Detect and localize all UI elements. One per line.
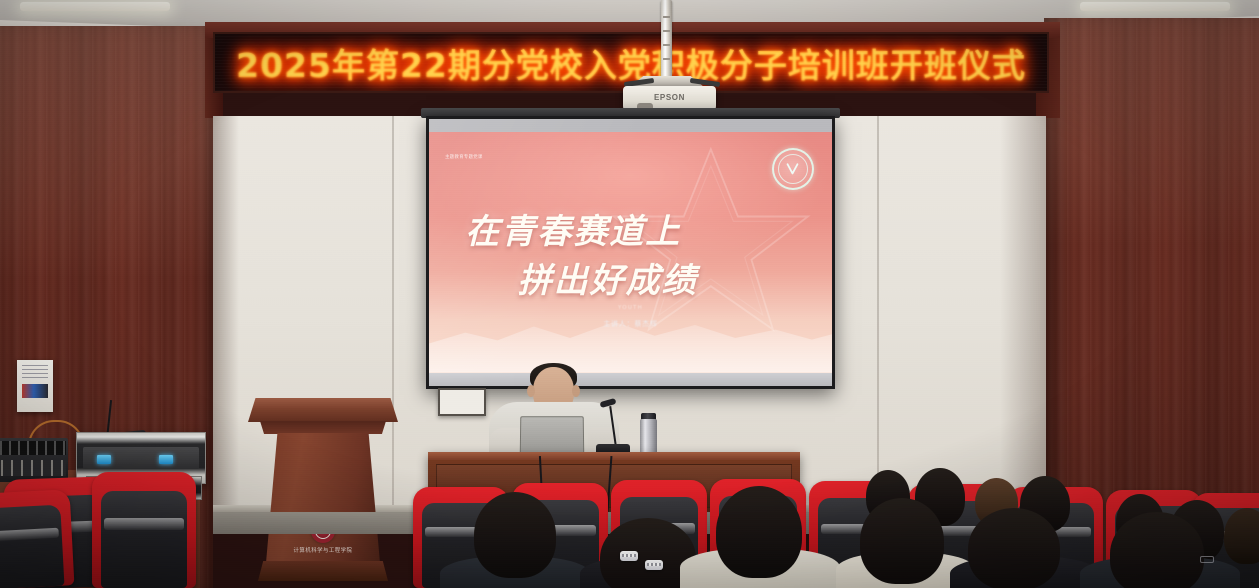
podium-neck (256, 421, 390, 434)
stage-table-lip (428, 452, 800, 460)
lecture-hall-photo: 2025年第22期分党校入党积极分子培训班开班仪式 EPSON 主题教育专题党课 (0, 0, 1259, 588)
attendee-head (1110, 512, 1204, 588)
framed-wall-picture (438, 388, 486, 416)
speaker-ear-left (527, 385, 535, 397)
mixer-knobs[interactable] (0, 441, 66, 455)
slide-title-line-2: 拼出好成绩 (518, 253, 698, 302)
check-v-glyph (784, 160, 801, 177)
eyeglasses-icon (1200, 556, 1214, 563)
projector-mount-pole (661, 0, 672, 84)
seat[interactable] (0, 489, 74, 588)
seat[interactable] (92, 472, 196, 588)
amp-led-display-right (159, 455, 173, 464)
slide-title-line-1: 在青春赛道上 (465, 204, 681, 253)
podium-body: 计算机科学与工程学院 (266, 433, 380, 563)
projector-brand-label: EPSON (623, 93, 716, 102)
slide: 主题教育专题党课 在青春赛道上 拼出好成绩 YOUTH 主讲人：蔡杰辉 (429, 132, 832, 372)
podium: 计算机科学与工程学院 (248, 398, 398, 588)
speaker-ear-right (572, 385, 580, 397)
university-emblem-icon (772, 148, 814, 190)
notice-poster (17, 360, 53, 412)
attendee-head (968, 508, 1060, 588)
poster-text-lines (22, 365, 48, 379)
attendee-head (716, 486, 802, 578)
projection-screen: 主题教育专题党课 在青春赛道上 拼出好成绩 YOUTH 主讲人：蔡杰辉 (429, 119, 832, 386)
slide-corner-label: 主题教育专题党课 (445, 154, 483, 160)
led-banner-text: 2025年第22期分党校入党积极分子培训班开班仪式 (236, 39, 1026, 87)
projection-screen-frame: 主题教育专题党课 在青春赛道上 拼出好成绩 YOUTH 主讲人：蔡杰辉 (426, 116, 835, 389)
wall-seam-2 (877, 116, 879, 516)
poster-image (22, 384, 48, 398)
slide-presenter-label: 主讲人：蔡杰辉 (429, 319, 832, 329)
wall-shadow-right (1000, 116, 1046, 516)
amp-led-display-left (97, 455, 111, 464)
attendee-head (860, 498, 944, 584)
podium-top (248, 398, 398, 422)
wall-shadow-left (213, 116, 239, 516)
slide-subtitle: YOUTH (429, 305, 832, 311)
ceiling-light-left (20, 2, 170, 11)
podium-base (258, 561, 388, 581)
hair-clip (645, 560, 663, 570)
ceiling-light-right (1080, 2, 1230, 11)
mixer-faders[interactable] (0, 460, 66, 476)
hair-clip (620, 551, 638, 561)
audio-mixer (0, 438, 68, 482)
podium-label: 计算机科学与工程学院 (266, 546, 380, 554)
attendee-head (1224, 508, 1259, 564)
attendee-head (474, 492, 556, 578)
